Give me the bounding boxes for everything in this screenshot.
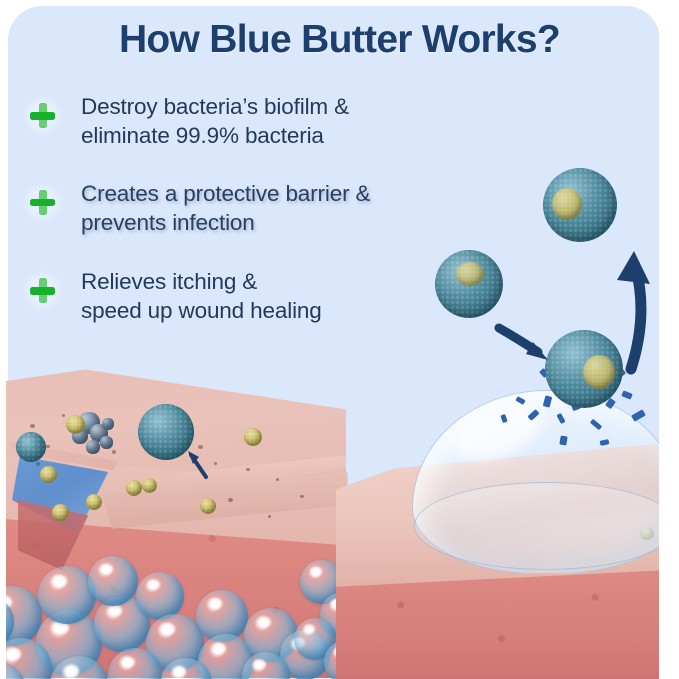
benefit-item-relieves-itching: Relieves itching & speed up wound healin… [30,267,450,326]
benefits-list: Destroy bacteria’s biofilm & eliminate 9… [30,92,450,354]
infographic-canvas: How Blue Butter Works? Destroy bacteria’… [0,0,679,679]
green-plus-icon [30,190,55,215]
bead [108,648,162,679]
bead [36,610,102,676]
benefit-item-destroy-biofilm: Destroy bacteria’s biofilm & eliminate 9… [30,92,450,151]
benefit-text: Creates a protective barrier & prevents … [81,179,370,238]
green-plus-icon [30,103,55,128]
benefit-text: Relieves itching & speed up wound healin… [81,267,322,326]
page-title: How Blue Butter Works? [0,18,679,62]
bead [146,614,204,672]
left-margin [0,0,6,679]
bead [320,592,366,638]
bead [0,586,42,646]
bead [160,658,212,679]
bead [242,652,290,679]
right-margin [659,0,679,679]
bead [94,596,150,652]
bead [280,630,330,679]
green-plus-icon [30,278,55,303]
benefit-text: Destroy bacteria’s biofilm & eliminate 9… [81,92,349,151]
bead [196,590,248,642]
bead [50,656,108,679]
bead [244,608,298,662]
benefit-item-protective-barrier: Creates a protective barrier & prevents … [30,179,450,238]
bead [0,638,52,679]
top-margin [0,0,679,5]
bead [294,618,336,660]
bead [198,634,254,679]
right-dermis-layer [336,566,679,679]
bead [324,640,368,679]
